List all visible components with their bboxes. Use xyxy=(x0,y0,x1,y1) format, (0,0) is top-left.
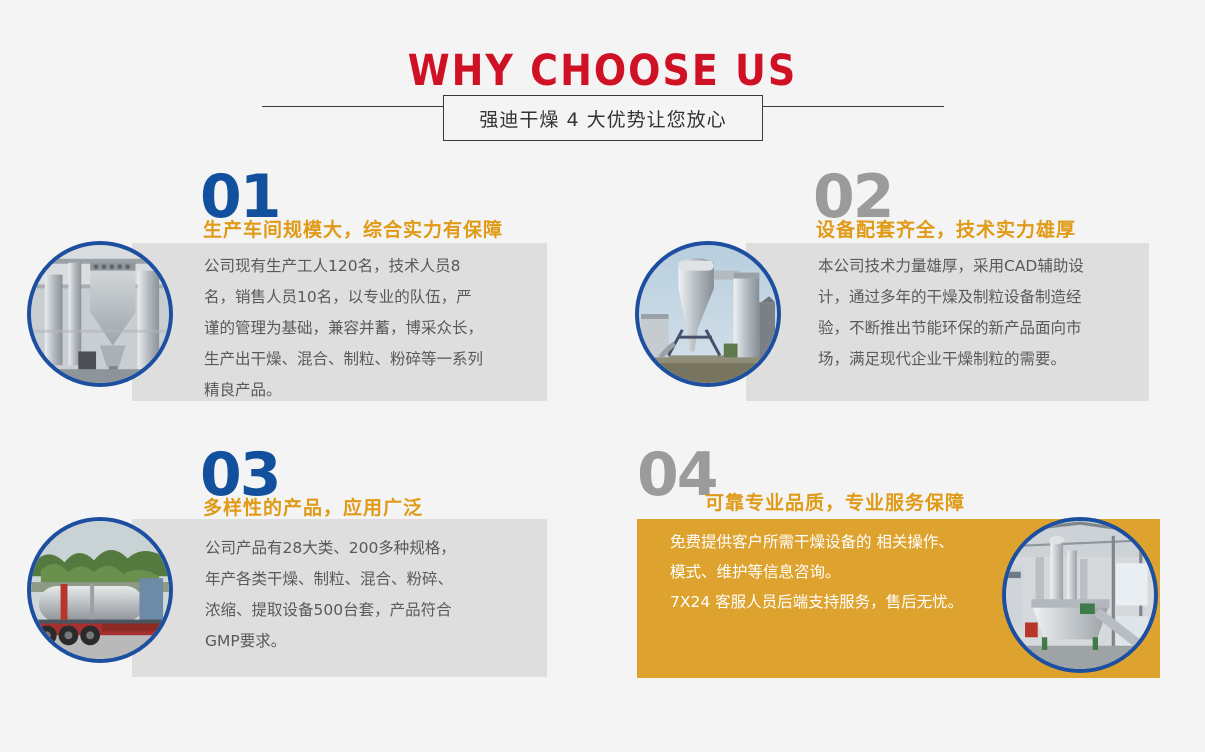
spray-dryer-workshop-photo xyxy=(27,241,173,387)
why-choose-us-section: WHY CHOOSE US 强迪干燥 4 大优势让您放心 01 生产车间规模大，… xyxy=(0,0,1205,752)
rotary-dryer-on-truck-photo xyxy=(27,517,173,663)
card-subtitle-02: 设备配套齐全，技术实力雄厚 xyxy=(816,215,1076,242)
card-subtitle-04: 可靠专业品质，专业服务保障 xyxy=(705,488,965,515)
page-subtitle: 强迪干燥 4 大优势让您放心 xyxy=(479,105,726,132)
card-subtitle-03: 多样性的产品，应用广泛 xyxy=(203,493,423,520)
advantage-card-02: 02 设备配套齐全，技术实力雄厚 本公司技术力量雄厚，采用CAD辅助设 计，通过… xyxy=(610,165,1205,410)
fluid-bed-dryer-plant-photo xyxy=(1002,517,1158,673)
advantage-card-04: 04 可靠专业品质，专业服务保障 免费提供客户所需干燥设备的 相关操作、 模式、… xyxy=(610,443,1205,693)
advantage-card-01: 01 生产车间规模大，综合实力有保障 公司现有生产工人120名，技术人员8 名，… xyxy=(0,165,560,410)
page-title: WHY CHOOSE US xyxy=(0,46,1205,95)
card-body-03: 公司产品有28大类、200多种规格， 年产各类干燥、制粒、混合、粉碎、 浓缩、提… xyxy=(205,533,540,657)
header-rule-right xyxy=(763,106,944,107)
outdoor-cyclone-dryer-photo xyxy=(635,241,781,387)
header-rule-left xyxy=(262,106,443,107)
section-header: WHY CHOOSE US 强迪干燥 4 大优势让您放心 xyxy=(0,0,1205,160)
header-subtitle-box: 强迪干燥 4 大优势让您放心 xyxy=(443,95,763,141)
advantage-card-03: 03 多样性的产品，应用广泛 公司产品有28大类、200多种规格， 年产各类干燥… xyxy=(0,443,560,688)
card-body-02: 本公司技术力量雄厚，采用CAD辅助设 计，通过多年的干燥及制粒设备制造经 验，不… xyxy=(818,251,1153,375)
card-subtitle-01: 生产车间规模大，综合实力有保障 xyxy=(203,215,503,242)
card-body-01: 公司现有生产工人120名，技术人员8 名，销售人员10名，以专业的队伍，严 谨的… xyxy=(204,251,534,406)
